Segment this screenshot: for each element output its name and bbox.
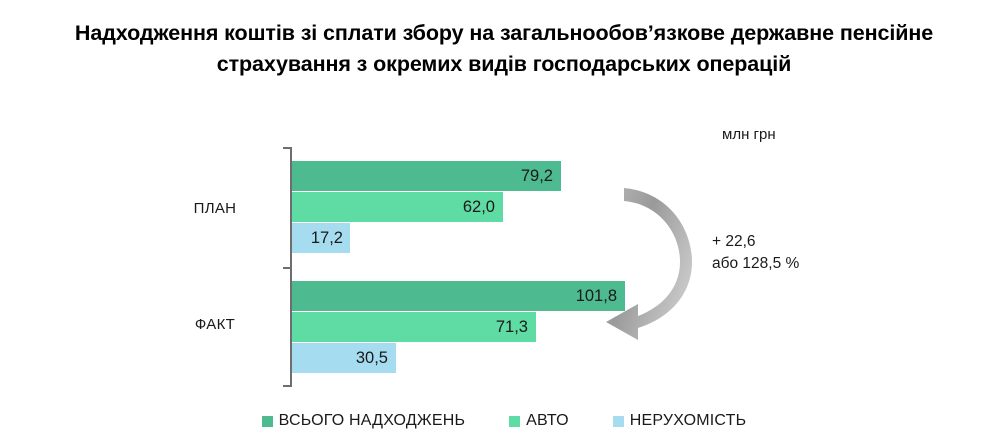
legend-item-realty[interactable]: НЕРУХОМІСТЬ <box>613 412 747 430</box>
legend-swatch-total-icon <box>262 416 273 427</box>
growth-annotation: + 22,6 або 128,5 % <box>712 231 799 275</box>
legend-item-auto[interactable]: АВТО <box>509 412 569 430</box>
unit-label: млн грн <box>722 126 776 143</box>
axis-tick-bottom <box>283 385 291 387</box>
category-label-plan: ПЛАН <box>155 200 275 217</box>
legend-label-total: ВСЬОГО НАДХОДЖЕНЬ <box>279 412 466 430</box>
legend-swatch-auto-icon <box>509 416 520 427</box>
legend-label-auto: АВТО <box>526 412 569 430</box>
bar-value-fact-auto: 71,3 <box>478 312 528 342</box>
axis-tick-middle <box>283 267 291 269</box>
growth-annotation-delta: + 22,6 <box>712 231 799 253</box>
category-label-fact: ФАКТ <box>155 316 275 333</box>
bar-value-plan-total: 79,2 <box>503 161 553 191</box>
bar-value-plan-realty: 17,2 <box>295 223 343 253</box>
bar-chart-plot-area: ПЛАН ФАКТ 79,2 62,0 17,2 101,8 71,3 30,5 <box>0 0 1008 445</box>
growth-arrow-icon <box>598 176 718 346</box>
axis-tick-top <box>283 147 291 149</box>
legend-swatch-realty-icon <box>613 416 624 427</box>
chart-legend: ВСЬОГО НАДХОДЖЕНЬ АВТО НЕРУХОМІСТЬ <box>0 412 1008 430</box>
legend-item-total[interactable]: ВСЬОГО НАДХОДЖЕНЬ <box>262 412 466 430</box>
bar-value-plan-auto: 62,0 <box>445 192 495 222</box>
legend-label-realty: НЕРУХОМІСТЬ <box>630 412 747 430</box>
growth-annotation-percent: або 128,5 % <box>712 253 799 275</box>
bar-value-fact-realty: 30,5 <box>338 343 388 373</box>
